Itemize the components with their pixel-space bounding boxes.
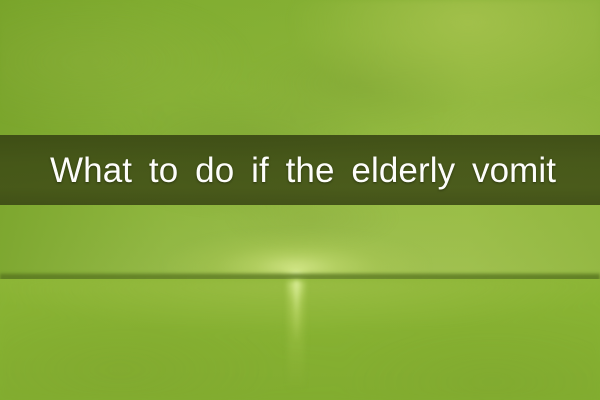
article-header-image: What to do if the elderly vomit [0,0,600,400]
sun-reflection-core [294,281,299,343]
title-banner: What to do if the elderly vomit [0,135,600,205]
page-title: What to do if the elderly vomit [50,153,556,188]
